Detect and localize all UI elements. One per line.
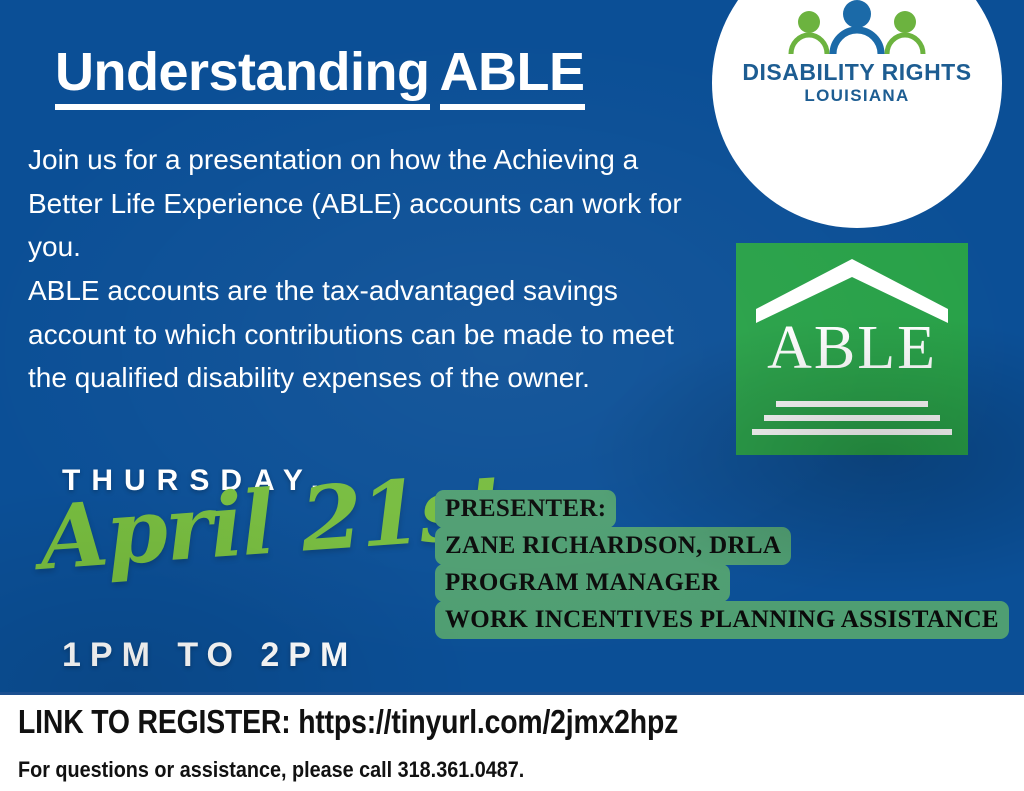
presenter-block: PRESENTER: ZANE RICHARDSON, DRLA PROGRAM… bbox=[435, 490, 1009, 639]
presenter-line: WORK INCENTIVES PLANNING ASSISTANCE bbox=[435, 601, 1009, 639]
drla-logo-name: DISABILITY RIGHTS bbox=[712, 60, 1002, 85]
disability-rights-louisiana-logo: DISABILITY RIGHTS LOUISIANA bbox=[712, 0, 1002, 228]
able-logo-word: ABLE bbox=[736, 317, 968, 379]
three-people-icon bbox=[757, 0, 957, 56]
body-copy: Join us for a presentation on how the Ac… bbox=[28, 138, 698, 400]
able-logo: ABLE bbox=[736, 243, 968, 455]
body-paragraph-1: Join us for a presentation on how the Ac… bbox=[28, 138, 698, 269]
questions-contact-text: For questions or assistance, please call… bbox=[18, 757, 709, 783]
register-link-text[interactable]: LINK TO REGISTER: https://tinyurl.com/2j… bbox=[18, 703, 678, 741]
drla-logo-sub: LOUISIANA bbox=[712, 86, 1002, 106]
presenter-line: PROGRAM MANAGER bbox=[435, 564, 730, 602]
page-title-part1: Understanding bbox=[55, 44, 430, 110]
page-title: UnderstandingABLE bbox=[55, 44, 585, 110]
event-time: 1PM TO 2PM bbox=[62, 636, 357, 675]
presenter-line: ZANE RICHARDSON, DRLA bbox=[435, 527, 791, 565]
footer-bar: LINK TO REGISTER: https://tinyurl.com/2j… bbox=[0, 692, 1024, 791]
poster-flyer: UnderstandingABLE Join us for a presenta… bbox=[0, 0, 1024, 791]
presenter-line: PRESENTER: bbox=[435, 490, 616, 528]
page-title-part2: ABLE bbox=[440, 44, 585, 110]
body-paragraph-2: ABLE accounts are the tax-advantaged sav… bbox=[28, 269, 698, 400]
